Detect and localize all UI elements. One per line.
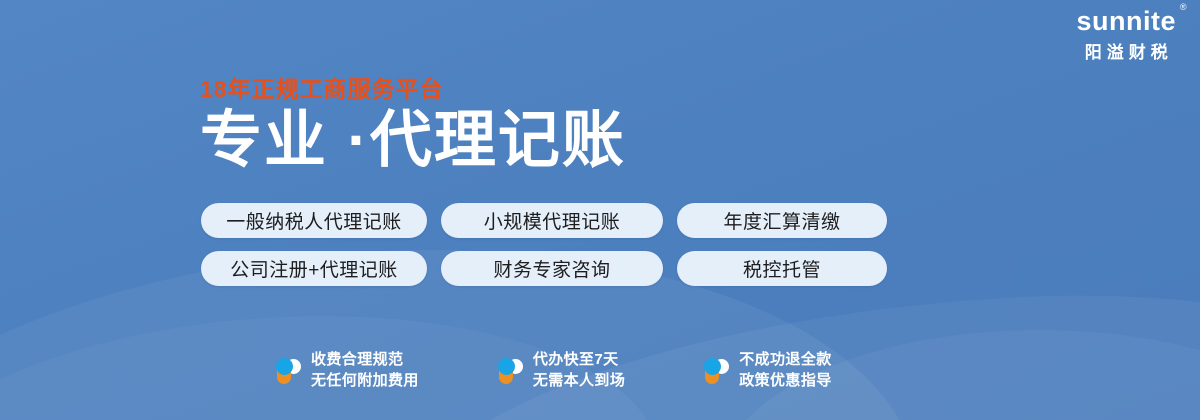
service-pill-grid: 一般纳税人代理记账 小规模代理记账 年度汇算清缴 公司注册+代理记账 财务专家咨… (201, 203, 887, 286)
service-pill[interactable]: 财务专家咨询 (441, 251, 663, 286)
service-pill[interactable]: 税控托管 (677, 251, 887, 286)
logo-wordmark-text: sunnite (1076, 6, 1176, 36)
half-moon-icon-dot (276, 358, 293, 375)
headline-block: 18年正规工商服务平台 专业 ·代理记账 (200, 76, 626, 174)
half-moon-icon (703, 356, 730, 386)
feature-line-1: 代办快至7天 (533, 352, 625, 369)
feature-line-2: 无任何附加费用 (311, 373, 419, 390)
feature-strip: 收费合理规范 无任何附加费用 代办快至7天 无需本人到场 不成功退全款 (275, 352, 832, 390)
feature-item: 代办快至7天 无需本人到场 (497, 352, 625, 390)
logo-chinese-name: 阳溢财税 (1076, 44, 1176, 61)
half-moon-icon (497, 356, 524, 386)
promo-banner: sunnite ® 阳溢财税 18年正规工商服务平台 专业 ·代理记账 一般纳税… (0, 0, 1200, 420)
logo-wordmark: sunnite ® (1076, 8, 1176, 35)
registered-trademark-icon: ® (1180, 3, 1187, 12)
feature-text: 不成功退全款 政策优惠指导 (739, 352, 831, 390)
feature-line-2: 无需本人到场 (533, 373, 625, 390)
feature-text: 代办快至7天 无需本人到场 (533, 352, 625, 390)
service-pill[interactable]: 一般纳税人代理记账 (201, 203, 427, 238)
page-title: 专业 ·代理记账 (200, 108, 626, 173)
half-moon-icon-dot (498, 358, 515, 375)
service-pill[interactable]: 小规模代理记账 (441, 203, 663, 238)
feature-line-1: 收费合理规范 (311, 352, 419, 369)
feature-item: 收费合理规范 无任何附加费用 (275, 352, 419, 390)
feature-text: 收费合理规范 无任何附加费用 (311, 352, 419, 390)
brand-logo[interactable]: sunnite ® 阳溢财税 (1076, 8, 1176, 61)
service-pill[interactable]: 公司注册+代理记账 (201, 251, 427, 286)
half-moon-icon (275, 356, 302, 386)
feature-line-2: 政策优惠指导 (739, 373, 831, 390)
eyebrow-tagline: 18年正规工商服务平台 (200, 76, 626, 102)
feature-item: 不成功退全款 政策优惠指导 (703, 352, 831, 390)
service-pill[interactable]: 年度汇算清缴 (677, 203, 887, 238)
half-moon-icon-dot (704, 358, 721, 375)
feature-line-1: 不成功退全款 (739, 352, 831, 369)
background-wave-decoration (370, 269, 1200, 420)
